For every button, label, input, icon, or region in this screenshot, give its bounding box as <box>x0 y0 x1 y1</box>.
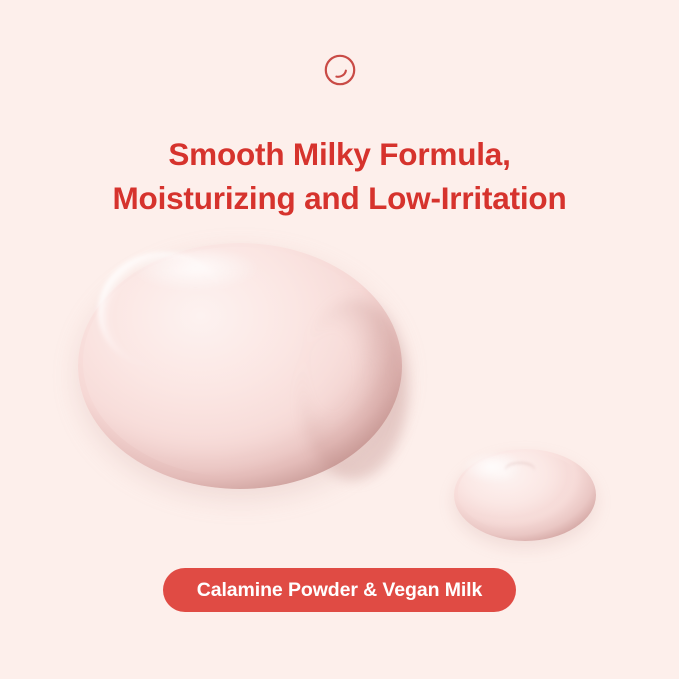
large-droplet-top-sheen <box>128 250 278 296</box>
small-droplet-gloss-highlight <box>462 453 536 487</box>
large-droplet-gloss-highlight <box>92 246 231 375</box>
large-milky-droplet <box>78 243 402 489</box>
dewdrop-circle-icon <box>322 52 358 88</box>
brand-icon-wrap <box>0 52 679 88</box>
large-droplet-shading <box>300 300 408 480</box>
headline-line-2: Moisturizing and Low-Irritation <box>0 176 679 220</box>
ingredient-badge-wrap: Calamine Powder & Vegan Milk <box>0 568 679 612</box>
product-feature-poster: Smooth Milky Formula, Moisturizing and L… <box>0 0 679 679</box>
small-milky-droplet <box>454 449 596 541</box>
page-title: Smooth Milky Formula, Moisturizing and L… <box>0 132 679 220</box>
small-droplet-dimple <box>505 462 535 476</box>
headline-line-1: Smooth Milky Formula, <box>0 132 679 176</box>
ingredient-badge: Calamine Powder & Vegan Milk <box>163 568 516 612</box>
